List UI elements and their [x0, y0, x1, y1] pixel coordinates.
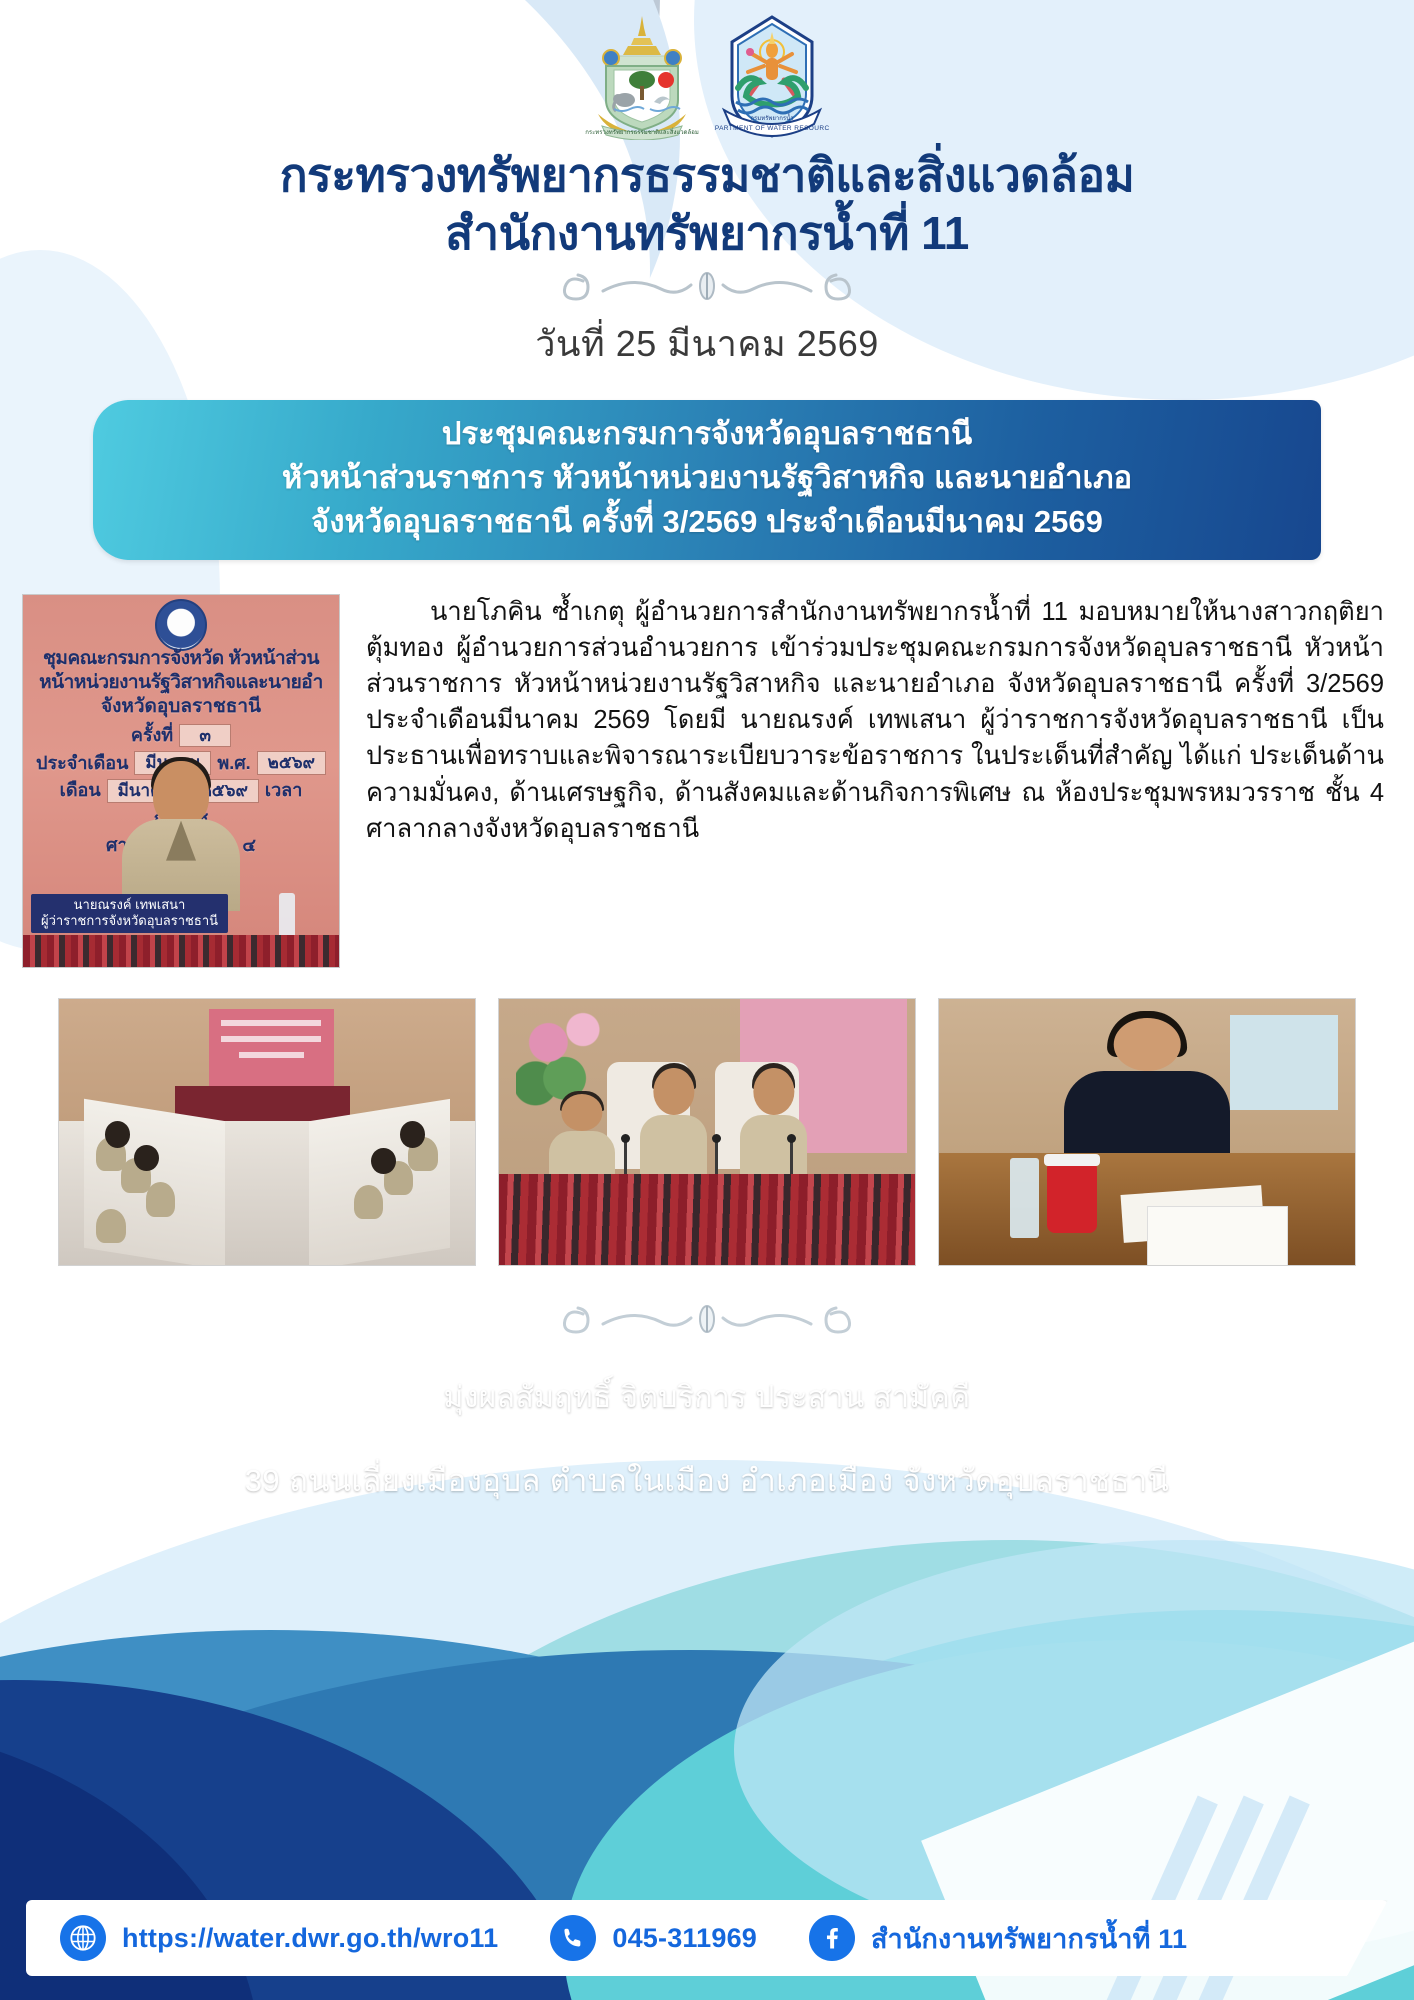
organization-title: กระทรวงทรัพยากรธรรมชาติและสิ่งแวดล้อม สำ… — [0, 148, 1414, 261]
hero-field-label-5: เวลา — [265, 779, 302, 802]
article-section: ชุมคณะกรมการจังหวัด หัวหน้าส่วน หน้าหน่ว… — [0, 594, 1414, 968]
footer-text-block: มุ่งผลสัมฤทธิ์ จิตบริการ ประสาน สามัคคี … — [0, 1374, 1414, 1505]
office-address: 39 ถนนเลี่ยงเมืองอุบล ตำบลในเมือง อำเภอเ… — [0, 1455, 1414, 1505]
hero-photo-nameplate: นายณรงค์ เทพเสนา ผู้ว่าราชการจังหวัดอุบล… — [31, 894, 228, 933]
department-water-resources-emblem-icon: กรมทรัพยากรน้ำ DEPARTMENT OF WATER RESOU… — [714, 14, 830, 140]
hero-backdrop-line-1: ชุมคณะกรมการจังหวัด หัวหน้าส่วน — [27, 647, 335, 671]
photo-b-tablecloth — [499, 1174, 915, 1264]
office-slogan: มุ่งผลสัมฤทธิ์ จิตบริการ ประสาน สามัคคี — [0, 1374, 1414, 1421]
ministry-name: กระทรวงทรัพยากรธรรมชาติและสิ่งแวดล้อม — [0, 148, 1414, 202]
facebook-icon — [809, 1915, 855, 1961]
poster-header: กระทรวงทรัพยากรธรรมชาติและสิ่งแวดล้อม — [0, 0, 1414, 372]
hero-photo-person — [122, 761, 240, 911]
hero-backdrop-line-3: จังหวัดอุบลราชธานี — [27, 695, 335, 719]
photo-b-official — [740, 1068, 807, 1185]
hero-field-label-2: ประจำเดือน — [36, 752, 128, 775]
ministry-natural-resources-emblem-icon: กระทรวงทรัพยากรธรรมชาติและสิ่งแวดล้อม — [584, 14, 700, 140]
photo-c-window — [1230, 1015, 1338, 1111]
hero-photo: ชุมคณะกรมการจังหวัด หัวหน้าส่วน หน้าหน่ว… — [22, 594, 340, 968]
contact-bar: https://water.dwr.go.th/wro11 045-311969… — [26, 1900, 1388, 1976]
nameplate-role: ผู้ว่าราชการจังหวัดอุบลราชธานี — [41, 913, 218, 929]
facebook-page-name[interactable]: สำนักงานทรัพยากรน้ำที่ 11 — [871, 1917, 1187, 1960]
nameplate-name: นายณรงค์ เทพเสนา — [41, 897, 218, 913]
photo-c-name-sign — [1147, 1206, 1288, 1266]
globe-icon — [60, 1915, 106, 1961]
ornament-divider-top-icon — [547, 269, 867, 305]
article-body: นายโภคิน ซ้ำเกตุ ผู้อำนวยการสำนักงานทรัพ… — [366, 594, 1384, 847]
ornament-divider-bottom-icon — [547, 1300, 867, 1340]
gallery-photo-director — [938, 998, 1356, 1266]
office-name: สำนักงานทรัพยากรน้ำที่ 11 — [0, 206, 1414, 260]
photo-a-stage-banner — [209, 1009, 334, 1089]
water-bottle — [279, 893, 295, 937]
photo-b-microphone — [790, 1140, 793, 1174]
website-url[interactable]: https://water.dwr.go.th/wro11 — [122, 1923, 498, 1954]
hero-field-label-4: เดือน — [60, 779, 101, 802]
photo-b-microphone — [715, 1140, 718, 1174]
photo-b-official — [549, 1094, 616, 1184]
phone-icon — [550, 1915, 596, 1961]
contact-facebook[interactable]: สำนักงานทรัพยากรน้ำที่ 11 — [809, 1915, 1187, 1961]
photo-a-attendee-head — [400, 1121, 425, 1148]
photo-a-attendee-head — [134, 1145, 159, 1172]
hero-field-label-1: ครั้งที่ — [131, 724, 173, 747]
banner-line-1: ประชุมคณะกรมการจังหวัดอุบลราชธานี — [442, 412, 972, 456]
event-title-banner: ประชุมคณะกรมการจังหวัดอุบลราชธานี หัวหน้… — [93, 400, 1321, 560]
logo-row: กระทรวงทรัพยากรธรรมชาติและสิ่งแวดล้อม — [0, 14, 1414, 144]
photo-a-attendee — [354, 1185, 383, 1220]
event-date: วันที่ 25 มีนาคม 2569 — [0, 315, 1414, 372]
photo-a-attendee-head — [371, 1148, 396, 1175]
poster-page: กระทรวงทรัพยากรธรรมชาติและสิ่งแวดล้อม — [0, 0, 1414, 2000]
hero-field-value-1: ๓ — [179, 724, 231, 748]
photo-c-cup — [1047, 1164, 1097, 1233]
svg-text:DEPARTMENT OF WATER RESOURCES: DEPARTMENT OF WATER RESOURCES — [714, 125, 830, 132]
photo-a-attendee-head — [105, 1121, 130, 1148]
contact-website[interactable]: https://water.dwr.go.th/wro11 — [60, 1915, 498, 1961]
photo-a-attendee — [96, 1209, 125, 1244]
banner-line-3: จังหวัดอุบลราชธานี ครั้งที่ 3/2569 ประจำ… — [311, 500, 1103, 544]
photo-c-water-bottle — [1010, 1158, 1039, 1238]
person-head — [153, 761, 209, 827]
photo-gallery — [0, 998, 1414, 1266]
banner-line-2: หัวหน้าส่วนราชการ หัวหน้าหน่วยงานรัฐวิสา… — [282, 456, 1132, 500]
phone-number[interactable]: 045-311969 — [612, 1923, 757, 1954]
photo-b-official — [640, 1068, 707, 1185]
hero-field-value-3: ๒๕๖๙ — [257, 751, 326, 775]
svg-text:กระทรวงทรัพยากรธรรมชาติและสิ่ง: กระทรวงทรัพยากรธรรมชาติและสิ่งแวดล้อม — [585, 128, 699, 136]
gallery-photo-meeting-room — [58, 998, 476, 1266]
photo-b-microphone — [624, 1140, 627, 1174]
province-seal-icon — [155, 599, 207, 651]
photo-a-attendee — [146, 1182, 175, 1217]
hero-photo-tablecloth — [23, 935, 339, 967]
gallery-photo-officials — [498, 998, 916, 1266]
article-text: นายโภคิน ซ้ำเกตุ ผู้อำนวยการสำนักงานทรัพ… — [366, 598, 1384, 843]
photo-a-table-right — [309, 1099, 450, 1265]
contact-phone[interactable]: 045-311969 — [550, 1915, 757, 1961]
hero-field-row-1: ครั้งที่ ๓ — [27, 724, 335, 748]
hero-backdrop-line-2: หน้าหน่วยงานรัฐวิสาหกิจและนายอำ — [27, 671, 335, 695]
